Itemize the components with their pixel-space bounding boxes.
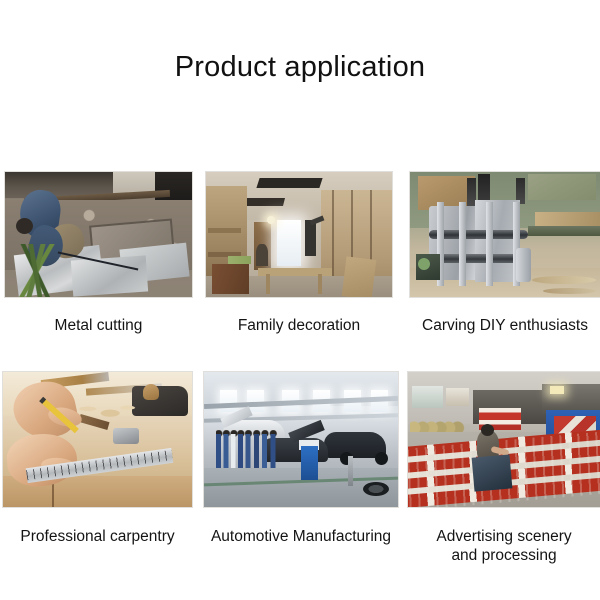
gallery-item-advertising-scenery[interactable]: Advertising scenery and processing	[408, 372, 600, 565]
gallery-item-professional-carpentry[interactable]: Professional carpentry	[3, 372, 192, 546]
caption-advertising-scenery: Advertising scenery and processing	[408, 527, 600, 565]
photo-automotive-manufacturing	[204, 372, 398, 507]
gallery-item-carving-diy[interactable]: Carving DIY enthusiasts	[410, 172, 600, 335]
photo-metal-cutting	[5, 172, 192, 297]
caption-automotive-manufacturing: Automotive Manufacturing	[204, 527, 398, 546]
caption-family-decoration: Family decoration	[206, 316, 392, 335]
product-application-page: Product application Metal cuttin	[0, 0, 600, 600]
photo-advertising-scenery	[408, 372, 600, 507]
gallery-item-automotive-manufacturing[interactable]: Automotive Manufacturing	[204, 372, 398, 546]
gallery-item-family-decoration[interactable]: Family decoration	[206, 172, 392, 335]
caption-carving-diy: Carving DIY enthusiasts	[410, 316, 600, 335]
photo-carving-diy	[410, 172, 600, 297]
photo-family-decoration	[206, 172, 392, 297]
gallery-row-1: Metal cutting	[0, 172, 600, 337]
page-title: Product application	[0, 50, 600, 85]
caption-professional-carpentry: Professional carpentry	[3, 527, 192, 546]
gallery-row-2: Professional carpentry	[0, 372, 600, 547]
photo-professional-carpentry	[3, 372, 192, 507]
gallery-item-metal-cutting[interactable]: Metal cutting	[5, 172, 192, 335]
caption-metal-cutting: Metal cutting	[5, 316, 192, 335]
